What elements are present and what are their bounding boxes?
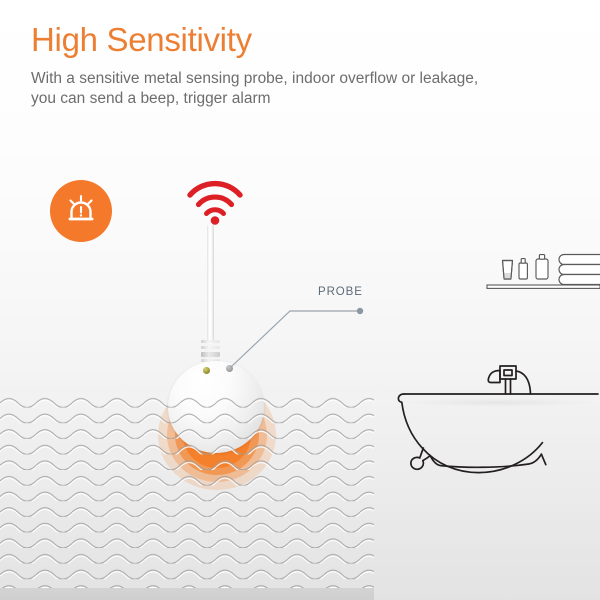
shelf-bottle xyxy=(519,263,527,279)
promo-banner: High Sensitivity With a sensitive metal … xyxy=(0,0,600,600)
folded-towel xyxy=(559,255,600,265)
folded-towel xyxy=(559,265,600,275)
clawfoot-bathtub xyxy=(396,352,600,512)
shelf-bottle xyxy=(536,259,548,279)
water-floor xyxy=(0,588,374,600)
water-waves xyxy=(0,392,374,592)
shelf-bottle-cap xyxy=(521,259,525,264)
probe-label: PROBE xyxy=(318,286,363,298)
bathroom-shelf xyxy=(486,245,600,293)
shelf-board xyxy=(487,285,600,288)
folded-towel xyxy=(559,275,600,285)
shelf-bottle-cap xyxy=(539,255,544,260)
bathtub-faucet xyxy=(488,366,530,394)
